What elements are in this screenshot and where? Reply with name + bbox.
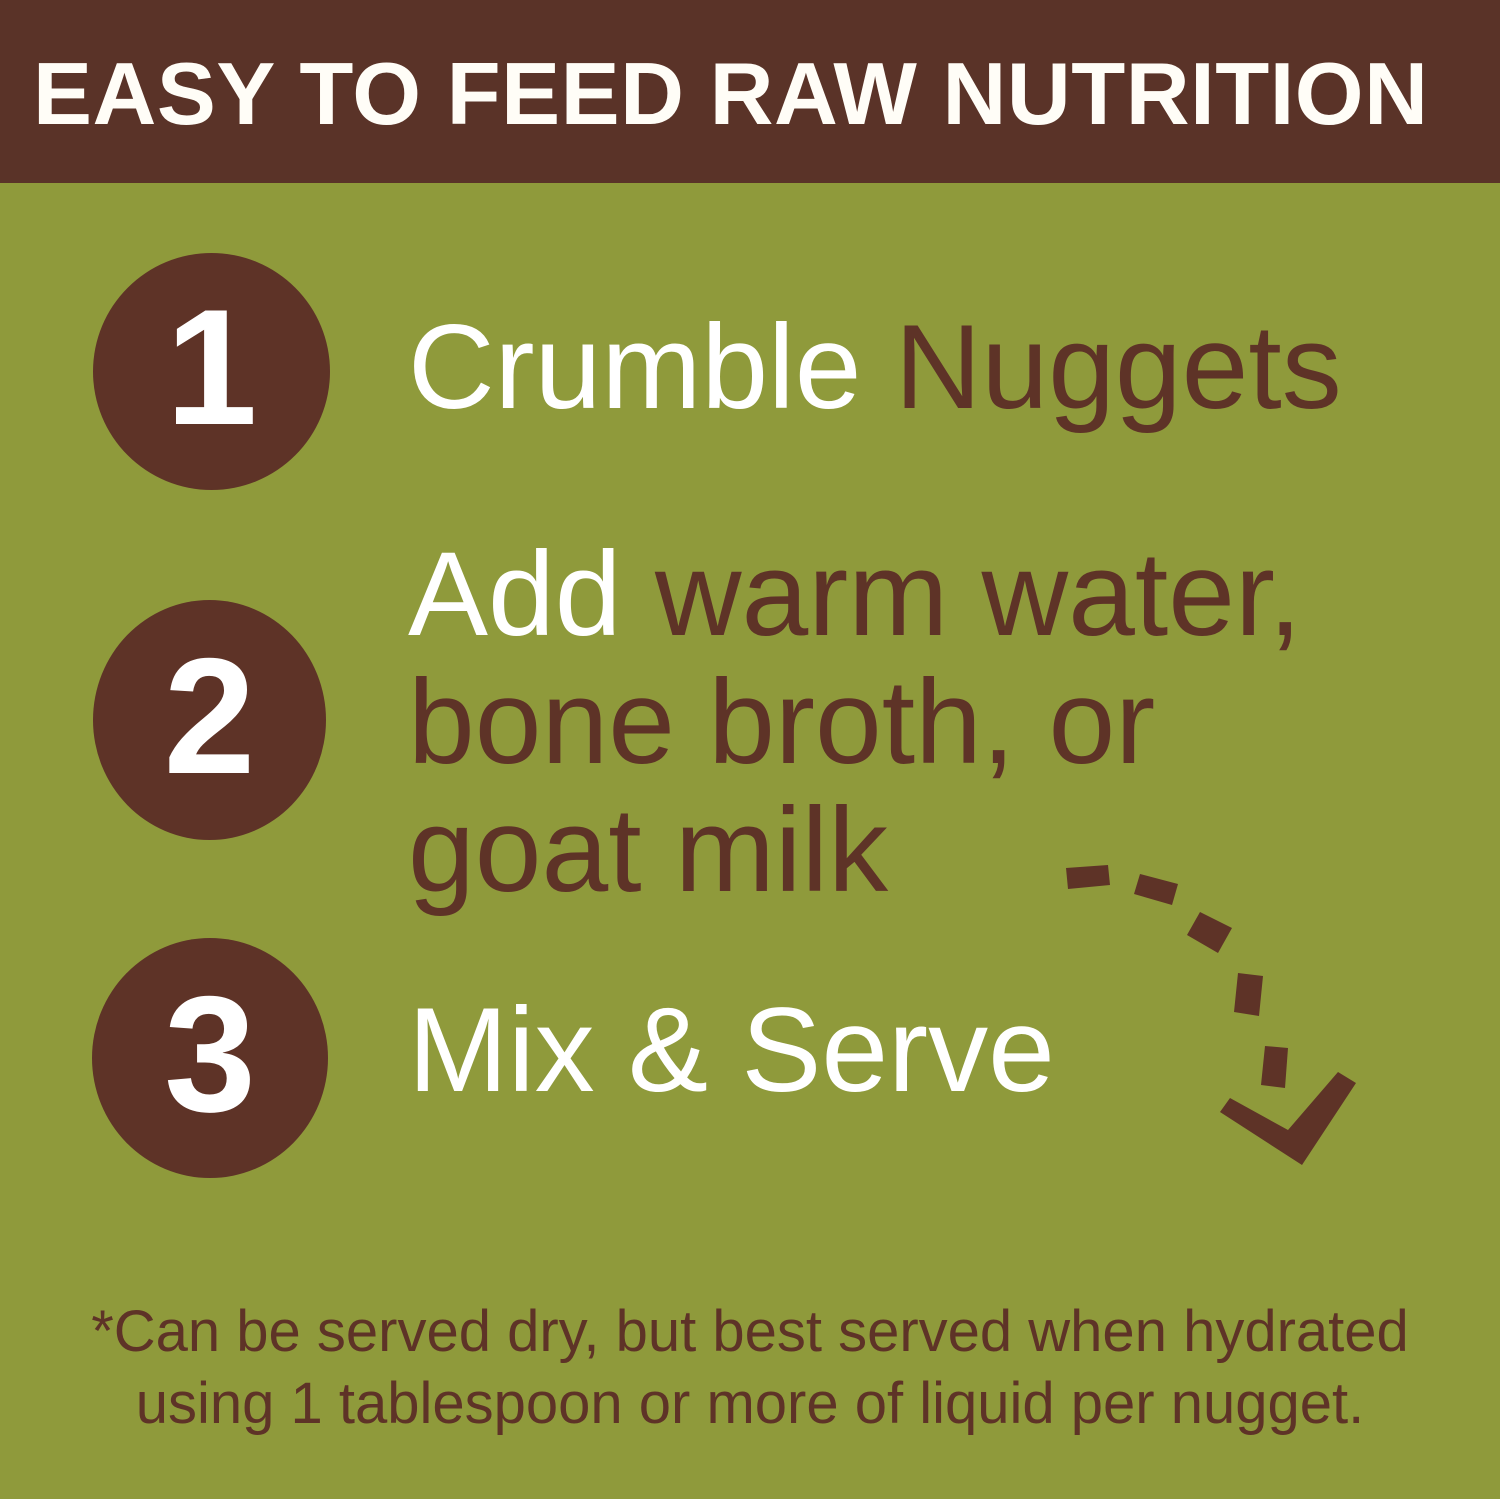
step-3-highlight: Mix & Serve: [408, 983, 1055, 1117]
step-2-line-2: bone broth, or: [408, 655, 1155, 789]
step-number-3: 3: [164, 972, 256, 1137]
step-number-badge-2: 2: [93, 600, 326, 840]
step-number-badge-3: 3: [92, 938, 328, 1178]
steps-list: 1 Crumble Nuggets 2 Add warm water, bone…: [0, 183, 1500, 1243]
step-2-line-3: goat milk: [408, 783, 888, 917]
footnote-line-2: using 1 tablespoon or more of liquid per…: [0, 1368, 1500, 1440]
step-2-highlight: Add: [408, 527, 655, 661]
step-item-2: 2 Add warm water, bone broth, or goat mi…: [0, 538, 1500, 868]
step-1-highlight: Crumble: [408, 300, 895, 434]
footnote-line-1: *Can be served dry, but best served when…: [0, 1296, 1500, 1368]
step-item-3: 3 Mix & Serve: [0, 938, 1500, 1178]
footnote: *Can be served dry, but best served when…: [0, 1296, 1500, 1440]
feeding-instructions-poster: EASY TO FEED RAW NUTRITION 1 Crumble Nug…: [0, 0, 1500, 1499]
page-title: EASY TO FEED RAW NUTRITION: [33, 50, 1452, 138]
step-2-line-1: warm water,: [655, 527, 1302, 661]
header-banner: EASY TO FEED RAW NUTRITION: [0, 0, 1500, 183]
step-text-3: Mix & Serve: [408, 986, 1468, 1114]
step-number-1: 1: [166, 285, 258, 450]
step-text-2: Add warm water, bone broth, or goat milk: [408, 530, 1468, 914]
step-text-1: Crumble Nuggets: [408, 303, 1468, 431]
step-number-badge-1: 1: [93, 253, 330, 490]
step-item-1: 1 Crumble Nuggets: [0, 253, 1500, 493]
step-number-2: 2: [164, 634, 256, 799]
step-1-object: Nuggets: [895, 300, 1342, 434]
